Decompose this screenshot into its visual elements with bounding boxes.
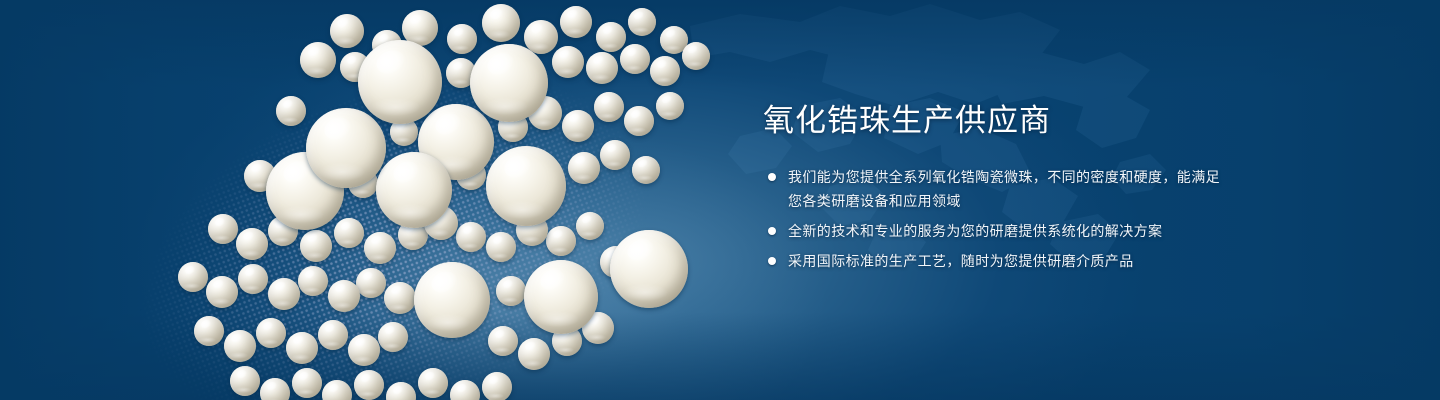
zirconia-bead [334,218,364,248]
zirconia-bead [600,140,630,170]
zirconia-bead [298,266,328,296]
zirconia-bead [594,92,624,122]
list-item: 全新的技术和专业的服务为您的研磨提供系统化的解决方案 [763,219,1233,243]
zirconia-bead [292,368,322,398]
zirconia-bead [456,222,486,252]
zirconia-bead [447,24,477,54]
zirconia-bead [206,276,238,308]
zirconia-bead [628,8,656,36]
zirconia-bead [354,370,384,400]
zirconia-bead [286,332,318,364]
zirconia-bead [488,326,518,356]
zirconia-bead [496,276,526,306]
zirconia-bead [524,260,598,334]
zirconia-bead [596,22,626,52]
zirconia-bead [306,108,386,188]
zirconia-bead [364,232,396,264]
list-item-label: 全新的技术和专业的服务为您的研磨提供系统化的解决方案 [788,223,1162,239]
zirconia-bead [348,334,380,366]
bullet-dot-icon [768,173,776,181]
zirconia-bead [624,106,654,136]
zirconia-bead [486,232,516,262]
zirconia-bead [562,110,594,142]
feature-list: 我们能为您提供全系列氧化锆陶瓷微珠，不同的密度和硬度，能满足您各类研磨设备和应用… [763,165,1233,273]
zirconia-bead [414,262,490,338]
zirconia-bead [328,280,360,312]
zirconia-bead [276,96,306,126]
bullet-dot-icon [768,227,776,235]
zirconia-bead [632,156,660,184]
zirconia-bead [376,152,452,228]
zirconia-bead [238,264,268,294]
zirconia-bead [656,92,684,120]
zirconia-bead [482,372,512,400]
zirconia-bead [356,268,386,298]
zirconia-bead [230,366,260,396]
zirconia-bead [418,368,448,398]
zirconia-bead [482,4,520,42]
zirconia-bead [194,316,224,346]
zirconia-bead [268,278,300,310]
zirconia-bead [208,214,238,244]
zirconia-bead [568,152,600,184]
list-item: 采用国际标准的生产工艺，随时为您提供研磨介质产品 [763,249,1233,273]
zirconia-bead [586,52,618,84]
list-item-label: 我们能为您提供全系列氧化锆陶瓷微珠，不同的密度和硬度，能满足您各类研磨设备和应用… [788,169,1220,209]
list-item: 我们能为您提供全系列氧化锆陶瓷微珠，不同的密度和硬度，能满足您各类研磨设备和应用… [763,165,1233,213]
banner-copy: 氧化锆珠生产供应商 我们能为您提供全系列氧化锆陶瓷微珠，不同的密度和硬度，能满足… [763,104,1233,273]
zirconia-bead [224,330,256,362]
zirconia-bead [610,230,688,308]
zirconia-bead [318,320,348,350]
hero-banner: 氧化锆珠生产供应商 我们能为您提供全系列氧化锆陶瓷微珠，不同的密度和硬度，能满足… [0,0,1440,400]
zirconia-bead [682,42,710,70]
zirconia-bead [546,226,576,256]
zirconia-bead [178,262,208,292]
zirconia-bead [384,282,416,314]
zirconia-bead [560,6,592,38]
zirconia-bead [470,44,548,122]
zirconia-bead [620,44,650,74]
zirconia-bead [552,46,584,78]
zirconia-bead [260,378,290,400]
zirconia-bead [518,338,550,370]
zirconia-bead [358,40,442,124]
zirconia-bead [576,212,604,240]
zirconia-bead [236,228,268,260]
zirconia-bead [256,318,286,348]
zirconia-bead [330,14,364,48]
page-title: 氧化锆珠生产供应商 [763,104,1233,139]
zirconia-bead [300,230,332,262]
zirconia-bead [378,322,408,352]
bullet-dot-icon [768,257,776,265]
zirconia-bead [650,56,680,86]
list-item-label: 采用国际标准的生产工艺，随时为您提供研磨介质产品 [788,253,1134,269]
zirconia-bead [300,42,336,78]
zirconia-bead [486,146,566,226]
